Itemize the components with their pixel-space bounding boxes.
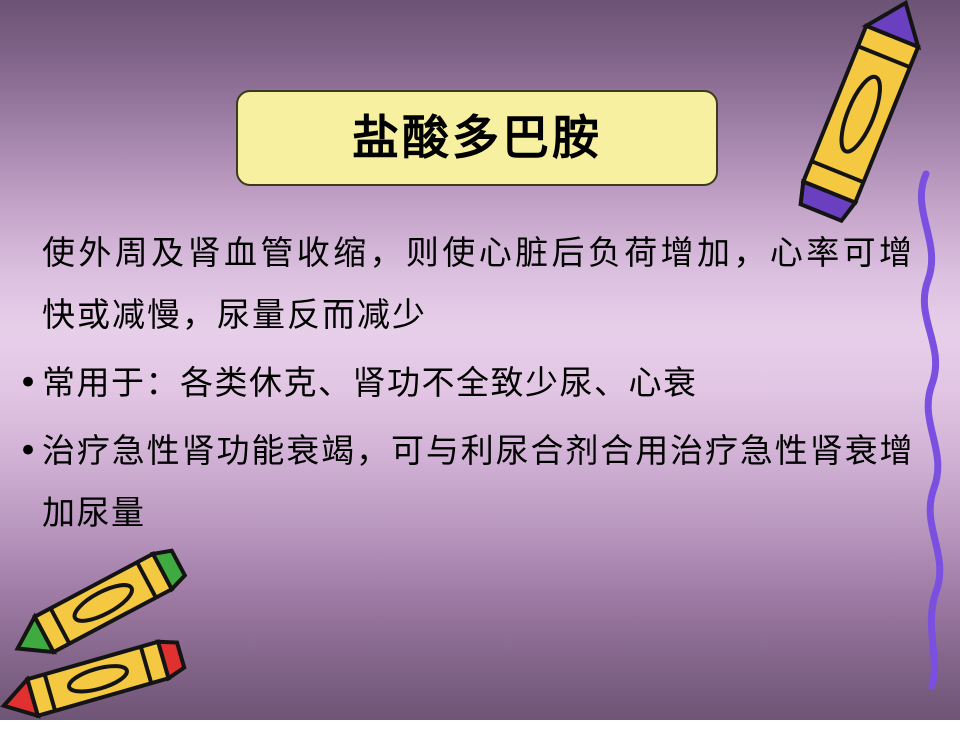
paragraph: • 常用于：各类休克、肾功不全致少尿、心衰 [14, 352, 914, 414]
paragraph-text: 使外周及肾血管收缩，则使心脏后负荷增加，心率可增快或减慢，尿量反而减少 [42, 222, 914, 346]
page-title: 盐酸多巴胺 [352, 115, 602, 162]
body-content: 使外周及肾血管收缩，则使心脏后负荷增加，心率可增快或减慢，尿量反而减少 • 常用… [14, 222, 914, 550]
crayon-icon [0, 540, 200, 730]
paragraph: • 治疗急性肾功能衰竭，可与利尿合剂合用治疗急性肾衰增加尿量 [14, 420, 914, 544]
slide-canvas: 盐酸多巴胺 使外周及肾血管收缩，则使心脏后负荷增加，心率可增快或减慢，尿量反而减… [0, 0, 960, 720]
bullet-marker: • [14, 352, 42, 414]
bullet-marker: • [14, 420, 42, 482]
paragraph-text: 治疗急性肾功能衰竭，可与利尿合剂合用治疗急性肾衰增加尿量 [42, 420, 914, 544]
title-box: 盐酸多巴胺 [236, 90, 718, 186]
paragraph-text: 常用于：各类休克、肾功不全致少尿、心衰 [42, 352, 914, 414]
paragraph: 使外周及肾血管收缩，则使心脏后负荷增加，心率可增快或减慢，尿量反而减少 [14, 222, 914, 346]
crayon-icon [770, 0, 960, 242]
